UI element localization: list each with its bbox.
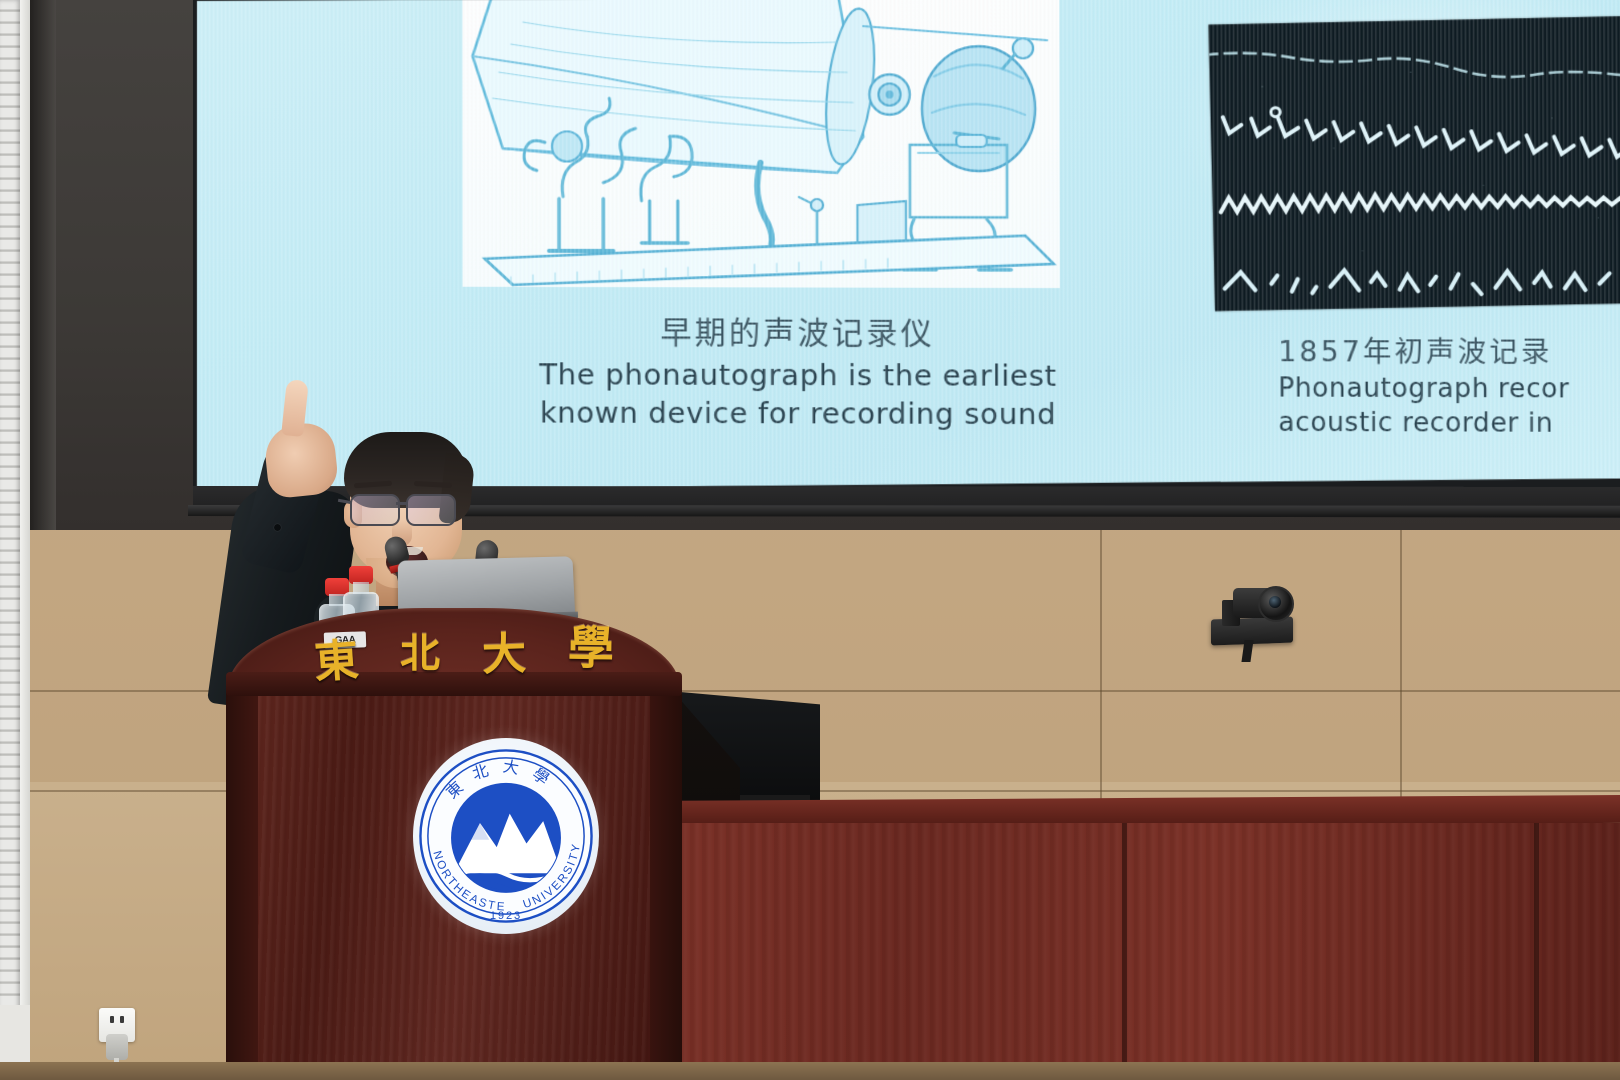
floor-strip xyxy=(0,1062,1620,1080)
slide-caption-right: 1857年初声波记录 Phonautograph recor acoustic … xyxy=(1278,333,1620,443)
desk-panel-seam-1 xyxy=(1122,823,1127,1080)
outlet-slot-left xyxy=(110,1016,114,1023)
wall-shadow-edge xyxy=(30,0,56,530)
caption-left-english-line1: The phonautograph is the earliest xyxy=(397,354,1200,395)
wall-seam-vertical-2 xyxy=(1400,530,1402,800)
caption-right-english-line2: acoustic recorder in xyxy=(1278,406,1620,443)
caption-right-english-line1: Phonautograph recor xyxy=(1278,371,1620,408)
glasses-lens-right xyxy=(406,494,456,526)
desk-panel-seam-2 xyxy=(1534,823,1539,1080)
louvered-panel xyxy=(0,0,20,1080)
glasses-lens-left xyxy=(350,494,400,526)
wooden-conference-desk xyxy=(622,795,1620,1080)
phonautograph-engraving xyxy=(462,0,1059,288)
glasses-bridge xyxy=(396,502,408,505)
outlet-slot-right xyxy=(120,1016,124,1023)
wall-seam-vertical xyxy=(1100,530,1102,800)
podium-char-4: 學 xyxy=(567,611,614,678)
podium-char-2: 北 xyxy=(400,621,440,679)
podium-char-3: 大 xyxy=(481,618,527,683)
university-seal: 東北大學 NORTHEASTERN UNIVERSITY 1923 xyxy=(413,738,599,934)
podium-char-1: 東 xyxy=(312,624,360,691)
lecture-hall-photo: 早期的声波记录仪 The phonautograph is the earlie… xyxy=(0,0,1620,1080)
camera-lens-icon xyxy=(1258,586,1294,622)
louvered-panel-edge xyxy=(20,0,30,1080)
lectern-podium: GAA 東 北 大 學 xyxy=(228,608,680,1080)
podium-university-name: 東 北 大 學 xyxy=(313,615,614,686)
sleeve-button xyxy=(274,524,281,531)
seal-year: 1923 xyxy=(490,910,522,922)
caption-right-chinese: 1857年初声波记录 xyxy=(1278,333,1620,372)
caption-left-chinese: 早期的声波记录仪 xyxy=(397,313,1200,357)
phonautogram-photo xyxy=(1208,16,1620,311)
power-plug[interactable] xyxy=(106,1034,128,1060)
